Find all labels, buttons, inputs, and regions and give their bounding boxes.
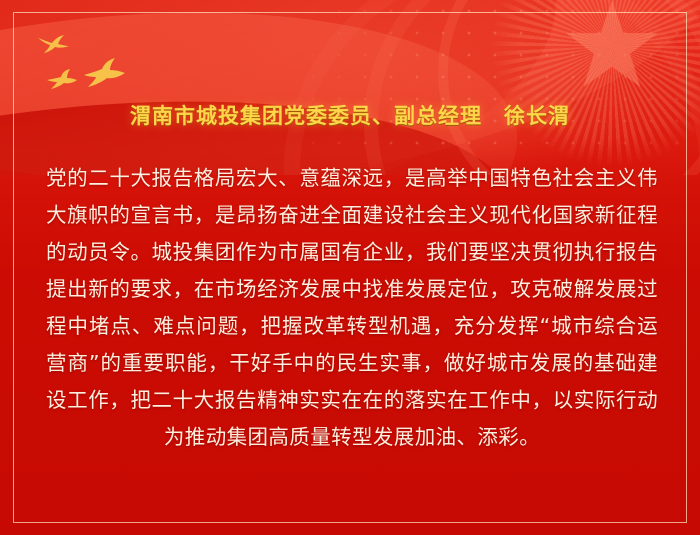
dove-group xyxy=(36,34,136,96)
star-emblem xyxy=(492,0,700,166)
peace-dove-icon xyxy=(36,34,70,54)
poster-canvas: 渭南市城投集团党委委员、副总经理 徐长渭 党的二十大报告格局宏大、意蕴深远，是高… xyxy=(0,0,700,535)
peace-dove-icon xyxy=(82,58,126,88)
poster-body-text: 党的二十大报告格局宏大、意蕴深远，是高举中国特色社会主义伟大旗帜的宣言书，是昂扬… xyxy=(46,160,658,456)
peace-dove-icon xyxy=(46,68,78,90)
poster-title: 渭南市城投集团党委委员、副总经理 徐长渭 xyxy=(0,100,700,130)
